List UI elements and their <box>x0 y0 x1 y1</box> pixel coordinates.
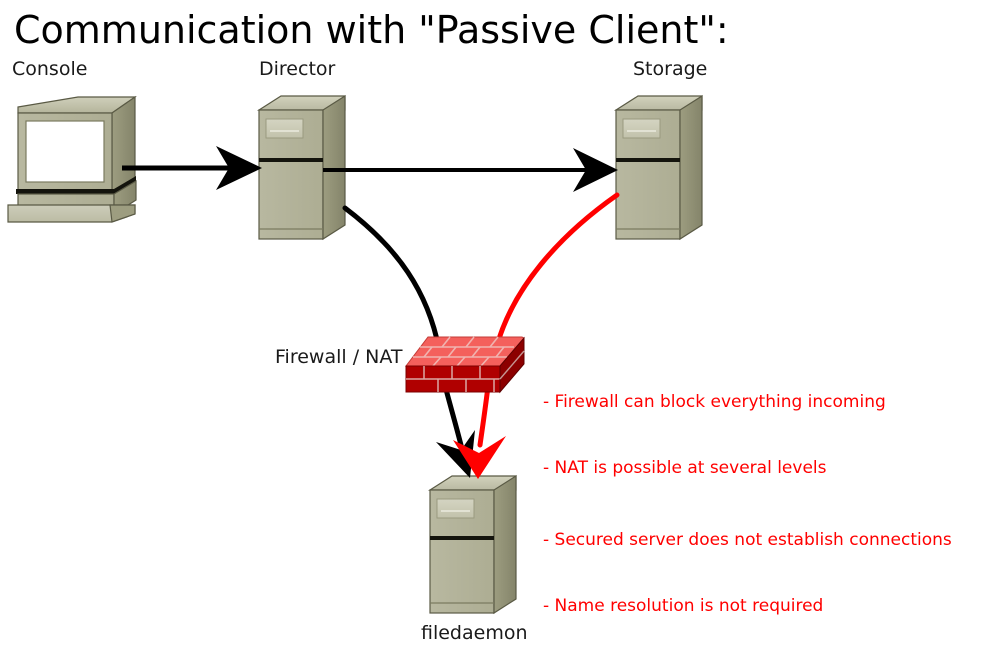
console-screen <box>26 121 104 182</box>
node-icon-console <box>8 97 136 222</box>
node-icon-firewall <box>406 337 524 392</box>
node-icon-storage <box>616 96 702 239</box>
connection-director-to-storage <box>323 148 618 192</box>
node-icon-director <box>259 96 345 239</box>
connection-console-to-director <box>122 146 262 190</box>
diagram-graphics <box>0 0 1000 648</box>
diagram-canvas: Communication with "Passive Client": Con… <box>0 0 1000 648</box>
node-icon-filedaemon <box>430 476 516 613</box>
